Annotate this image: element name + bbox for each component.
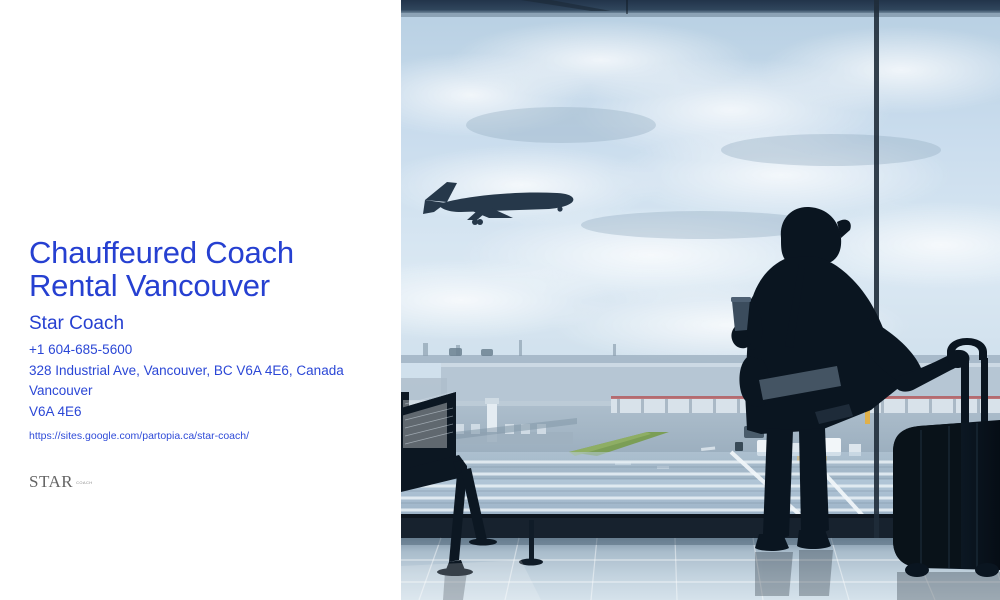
- business-phone[interactable]: +1 604-685-5600: [29, 340, 381, 361]
- business-address: 328 Industrial Ave, Vancouver, BC V6A 4E…: [29, 361, 381, 382]
- business-name: Star Coach: [29, 312, 381, 336]
- business-info-panel: Chauffeured Coach Rental Vancouver Star …: [0, 0, 401, 600]
- page-title: Chauffeured Coach Rental Vancouver: [29, 236, 381, 302]
- brand-logo-subtext: COACH: [76, 479, 92, 490]
- airport-terminal-illustration: [401, 0, 1000, 600]
- business-postal-code: V6A 4E6: [29, 402, 381, 423]
- ceiling-band: [401, 0, 1000, 13]
- listing-page: Chauffeured Coach Rental Vancouver Star …: [0, 0, 1000, 600]
- brand-wordmark: STAR: [29, 473, 73, 490]
- business-website-link[interactable]: https://sites.google.com/partopia.ca/sta…: [29, 428, 381, 444]
- hero-photo: [401, 0, 1000, 600]
- business-info-block: Chauffeured Coach Rental Vancouver Star …: [29, 236, 381, 490]
- business-city: Vancouver: [29, 381, 381, 402]
- window-mullion: [874, 0, 879, 538]
- brand-logo: STAR COACH: [29, 466, 381, 490]
